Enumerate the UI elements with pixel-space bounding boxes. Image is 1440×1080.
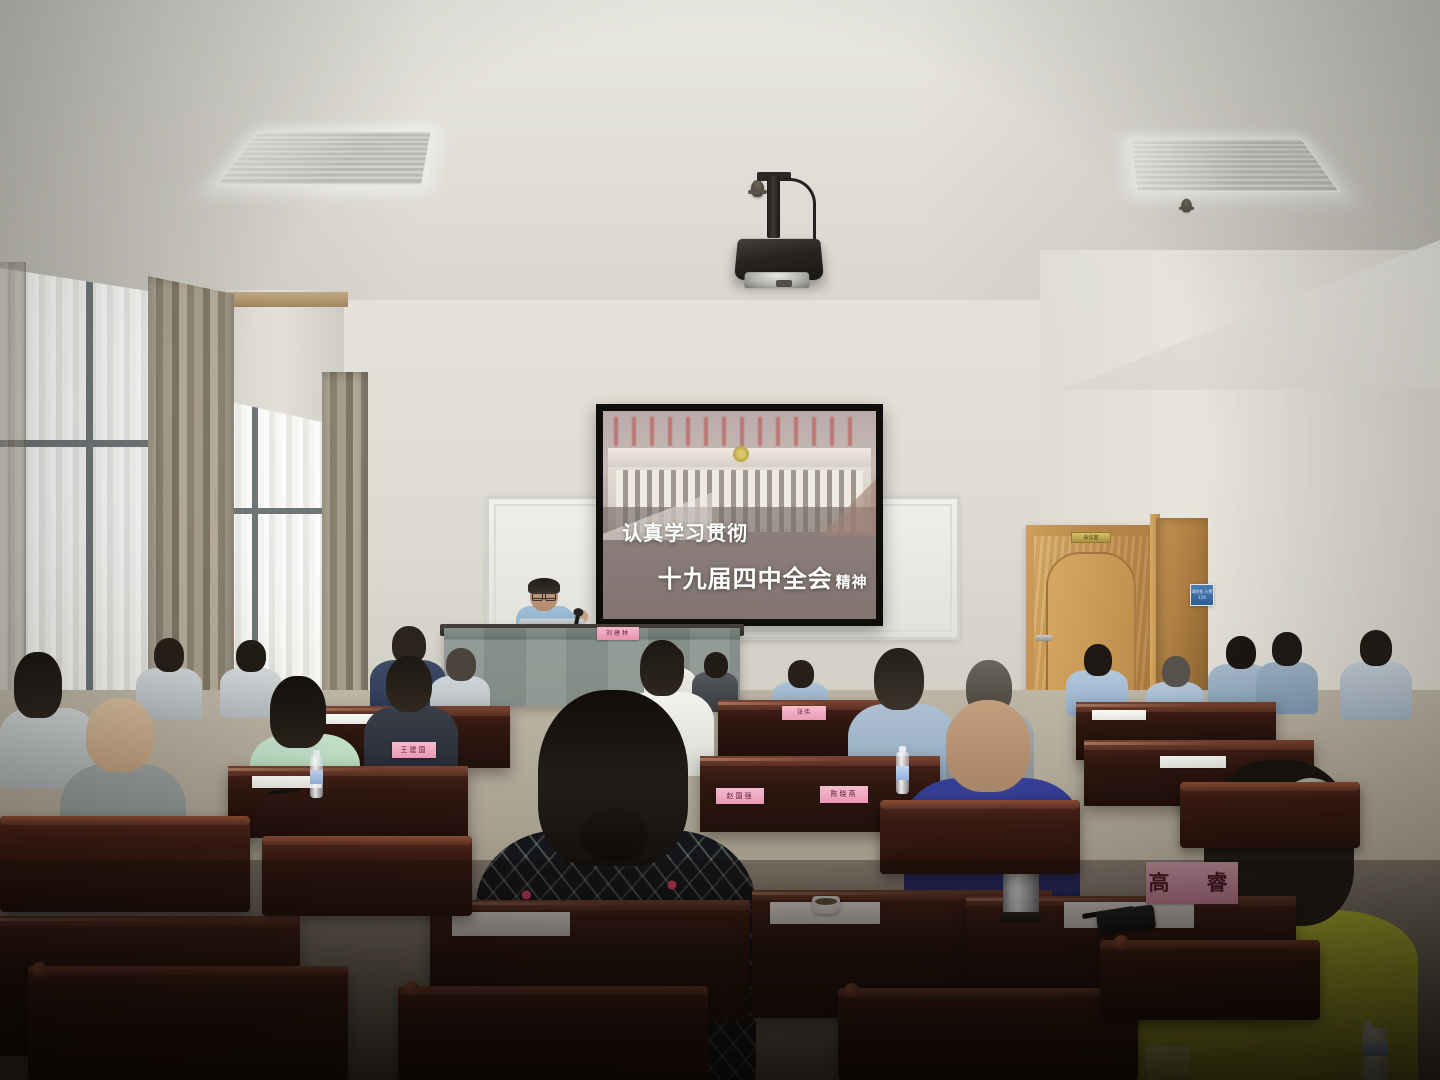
attendee-head [236, 640, 266, 672]
wall-sign-text: 消防栓 火警119 [1191, 585, 1213, 601]
name-card: 张伟 [782, 706, 826, 720]
desk-highlight [1084, 742, 1314, 745]
slide-heading-main: 十九届四中全会 [658, 565, 833, 593]
water-bottle [310, 756, 323, 798]
attendee-head [1162, 656, 1190, 687]
document-paper [1092, 710, 1146, 720]
ceiling-projector [734, 239, 824, 280]
attendee-man-dark-polo [364, 656, 458, 780]
attendee-head [640, 640, 684, 696]
desk-surface [1084, 740, 1314, 750]
desk-surface [228, 766, 468, 776]
attendee-head [1272, 632, 1302, 666]
slide-heading-line1: 认真学习贯彻 [622, 517, 748, 546]
projection-screen: 认真学习贯彻 十九届四中全会精神 [603, 411, 876, 619]
hair-bun [580, 808, 648, 862]
desk-highlight [228, 768, 468, 771]
national-emblem-icon [733, 446, 749, 462]
attendee-head [386, 656, 432, 712]
attendee-door-5 [1340, 630, 1412, 716]
attendee-head [86, 698, 154, 772]
attendee-torso [1340, 662, 1412, 720]
curtain-left-edge [0, 262, 26, 702]
projection-screen-frame: 认真学习贯彻 十九届四中全会精神 [596, 404, 883, 626]
slide-flags [614, 417, 865, 446]
door-handle[interactable] [1036, 635, 1052, 641]
bottle-label [310, 770, 323, 784]
speaker-glasses-icon [532, 593, 556, 599]
chair-far-right[interactable] [1180, 782, 1360, 848]
desk-highlight [1076, 704, 1276, 707]
chair-backrest-rail [1180, 782, 1360, 791]
foreground-shadow [0, 860, 1440, 1080]
sprinkler-head-icon [751, 180, 764, 197]
attendee-head [946, 700, 1030, 792]
attendee-head [154, 638, 184, 672]
projector-adjust-knob [776, 280, 792, 287]
chair-backrest-rail [262, 836, 472, 845]
attendee-head [788, 660, 814, 688]
name-card: 王建国 [392, 742, 436, 758]
chair-backrest-rail [0, 816, 250, 825]
attendee-head [1360, 630, 1392, 666]
attendee-head-hair [14, 652, 62, 718]
attendee-head [1084, 644, 1112, 676]
curtain-left-near [322, 372, 368, 702]
fire-safety-wall-sign: 消防栓 火警119 [1190, 584, 1214, 606]
name-card-speaker: 刘建林 [597, 627, 639, 640]
projector-cable [778, 178, 816, 240]
attendee-head-hair [270, 676, 326, 748]
slide-heading-suffix: 精神 [836, 573, 868, 591]
chair-backrest-rail [880, 800, 1080, 809]
attendee-door-4 [1256, 632, 1318, 710]
sprinkler-head-icon [1181, 199, 1191, 213]
meeting-room-photo: 认真学习贯彻 十九届四中全会精神 会议室 消防栓 火警119 刘建林 [0, 0, 1440, 1080]
door-sign: 会议室 [1071, 532, 1111, 543]
left-wall-beam [222, 292, 348, 307]
attendee-head [1226, 636, 1256, 669]
name-card: 陈晓燕 [820, 786, 868, 803]
slide-heading-line2: 十九届四中全会精神 [658, 559, 868, 594]
speaker-hair [528, 578, 560, 594]
